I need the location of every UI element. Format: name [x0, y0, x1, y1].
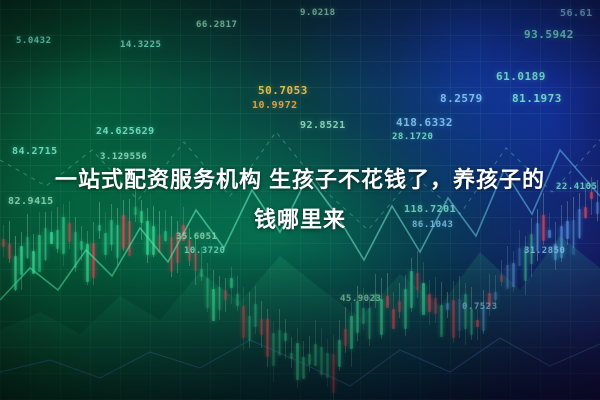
headline-line-2: 钱哪里来: [0, 200, 600, 240]
headline-line-1: 一站式配资服务机构 生孩子不花钱了，养孩子的: [0, 160, 600, 200]
headline: 一站式配资服务机构 生孩子不花钱了，养孩子的 钱哪里来: [0, 160, 600, 240]
market-banner-image: 93.594256.6161.01898.257981.197350.70531…: [0, 0, 600, 400]
